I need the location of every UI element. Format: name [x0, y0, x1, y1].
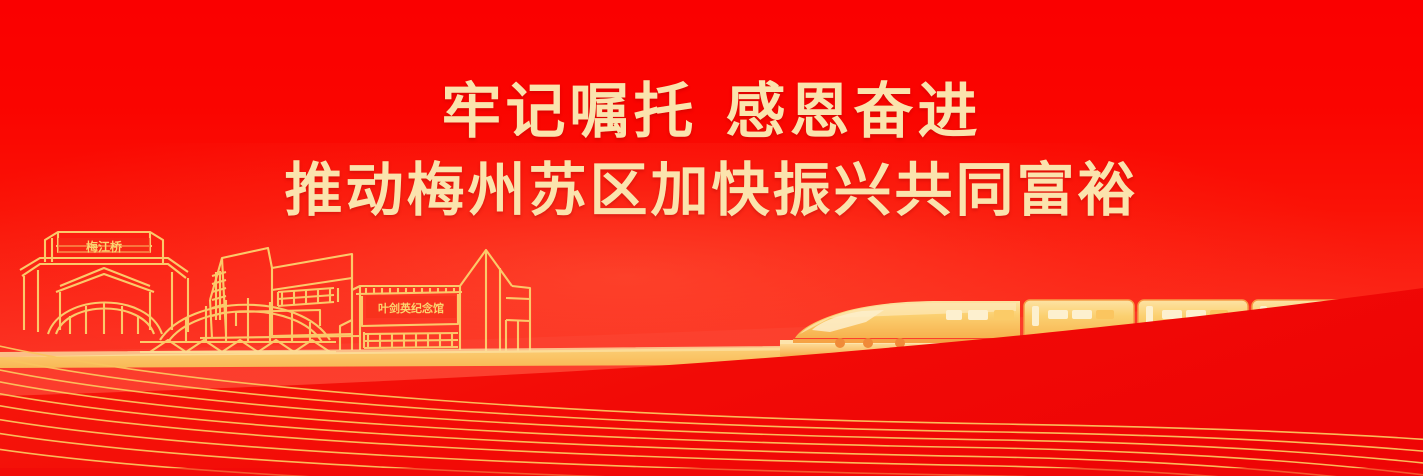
- tall-angular-tower: [460, 250, 534, 352]
- modern-civic-buildings: [200, 248, 360, 338]
- propaganda-banner: 梅江桥 叶剑英纪念馆: [0, 0, 1423, 476]
- bottom-hem: [0, 468, 1423, 476]
- memorial-hall-label: 叶剑英纪念馆: [378, 301, 444, 315]
- bridge-gate-label: 梅江桥: [86, 239, 123, 254]
- banner-artwork: 梅江桥 叶剑英纪念馆: [0, 0, 1423, 476]
